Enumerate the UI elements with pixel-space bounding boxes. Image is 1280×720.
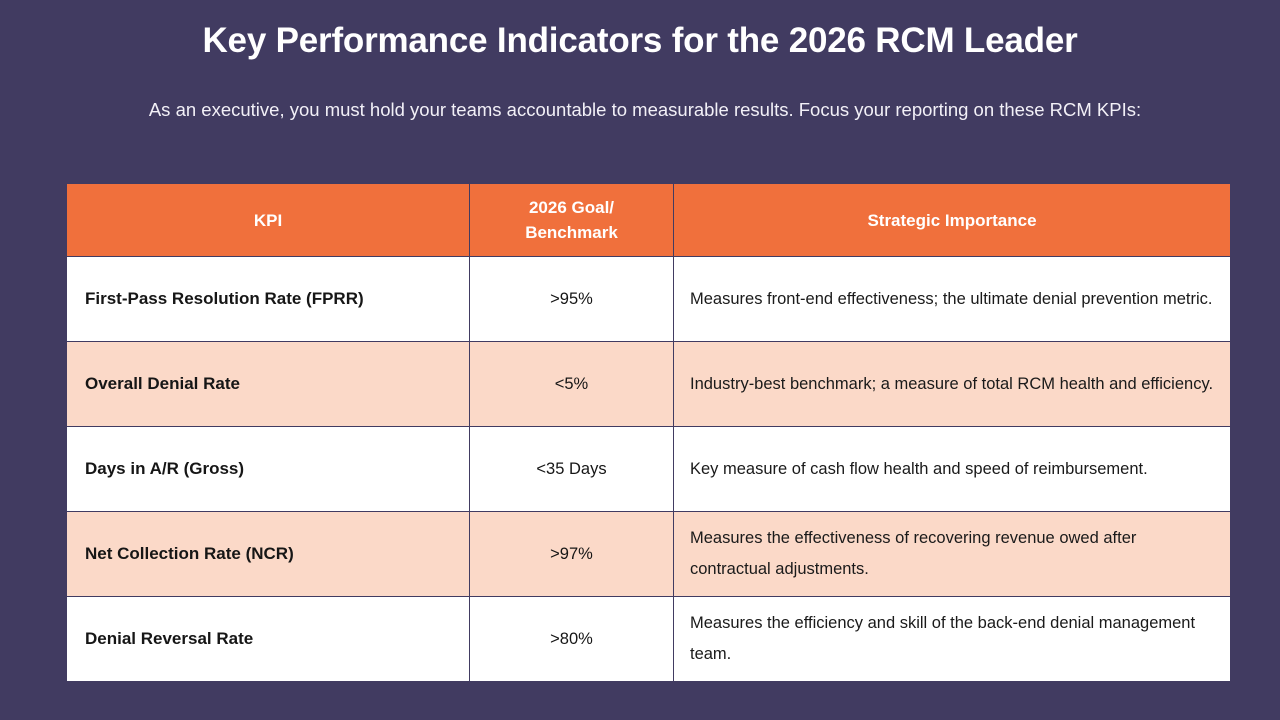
page-title: Key Performance Indicators for the 2026 … [0,18,1280,64]
table-row: First-Pass Resolution Rate (FPRR) >95% M… [67,257,1231,342]
cell-kpi: Days in A/R (Gross) [67,427,470,512]
table-header: KPI 2026 Goal/ Benchmark Strategic Impor… [67,184,1231,257]
cell-goal: >97% [470,512,674,597]
cell-importance: Industry-best benchmark; a measure of to… [674,342,1231,427]
table-row: Net Collection Rate (NCR) >97% Measures … [67,512,1231,597]
cell-importance: Measures front-end effectiveness; the ul… [674,257,1231,342]
table-header-row: KPI 2026 Goal/ Benchmark Strategic Impor… [67,184,1231,257]
kpi-table: KPI 2026 Goal/ Benchmark Strategic Impor… [66,183,1231,682]
cell-goal: >95% [470,257,674,342]
slide-subtitle: As an executive, you must hold your team… [140,94,1150,125]
cell-kpi: Net Collection Rate (NCR) [67,512,470,597]
kpi-table-container: KPI 2026 Goal/ Benchmark Strategic Impor… [66,183,1230,681]
column-header-goal-line2: Benchmark [525,223,618,242]
column-header-kpi: KPI [67,184,470,257]
cell-kpi: Denial Reversal Rate [67,597,470,682]
cell-importance: Measures the efficiency and skill of the… [674,597,1231,682]
cell-goal: <35 Days [470,427,674,512]
cell-importance: Measures the effectiveness of recovering… [674,512,1231,597]
cell-goal: >80% [470,597,674,682]
cell-kpi: First-Pass Resolution Rate (FPRR) [67,257,470,342]
column-header-importance: Strategic Importance [674,184,1231,257]
slide-root: Key Performance Indicators for the 2026 … [0,0,1280,720]
table-row: Overall Denial Rate <5% Industry-best be… [67,342,1231,427]
cell-importance: Key measure of cash flow health and spee… [674,427,1231,512]
table-row: Denial Reversal Rate >80% Measures the e… [67,597,1231,682]
cell-kpi: Overall Denial Rate [67,342,470,427]
column-header-goal: 2026 Goal/ Benchmark [470,184,674,257]
table-row: Days in A/R (Gross) <35 Days Key measure… [67,427,1231,512]
cell-goal: <5% [470,342,674,427]
column-header-goal-line1: 2026 Goal/ [529,198,614,217]
table-body: First-Pass Resolution Rate (FPRR) >95% M… [67,257,1231,682]
